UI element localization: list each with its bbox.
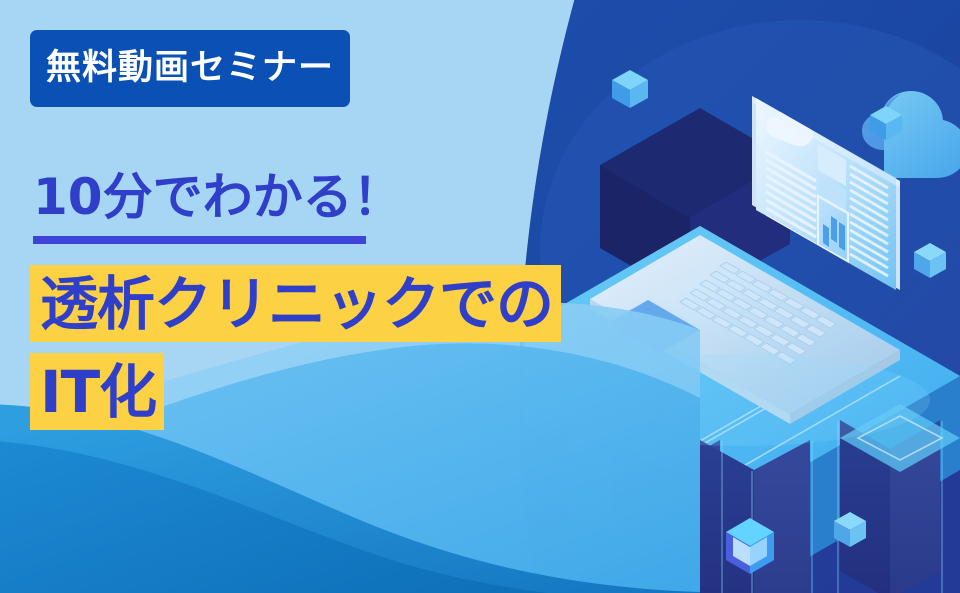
highlight-line-1: 透析クリニックでの — [30, 265, 561, 342]
headline-underline — [33, 236, 366, 244]
highlight-line-1-text: 透析クリニックでの — [40, 275, 553, 333]
highlight-line-2: IT化 — [30, 353, 164, 430]
highlight-line-2-text: IT化 — [40, 363, 156, 421]
headline-text: 10分でわかる！ — [33, 172, 403, 222]
text-layer: 無料動画セミナー 10分でわかる！ 透析クリニックでの IT化 — [0, 0, 960, 593]
seminar-badge: 無料動画セミナー — [30, 30, 350, 107]
seminar-badge-label: 無料動画セミナー — [46, 51, 334, 86]
seminar-banner: 無料動画セミナー 10分でわかる！ 透析クリニックでの IT化 — [0, 0, 960, 593]
